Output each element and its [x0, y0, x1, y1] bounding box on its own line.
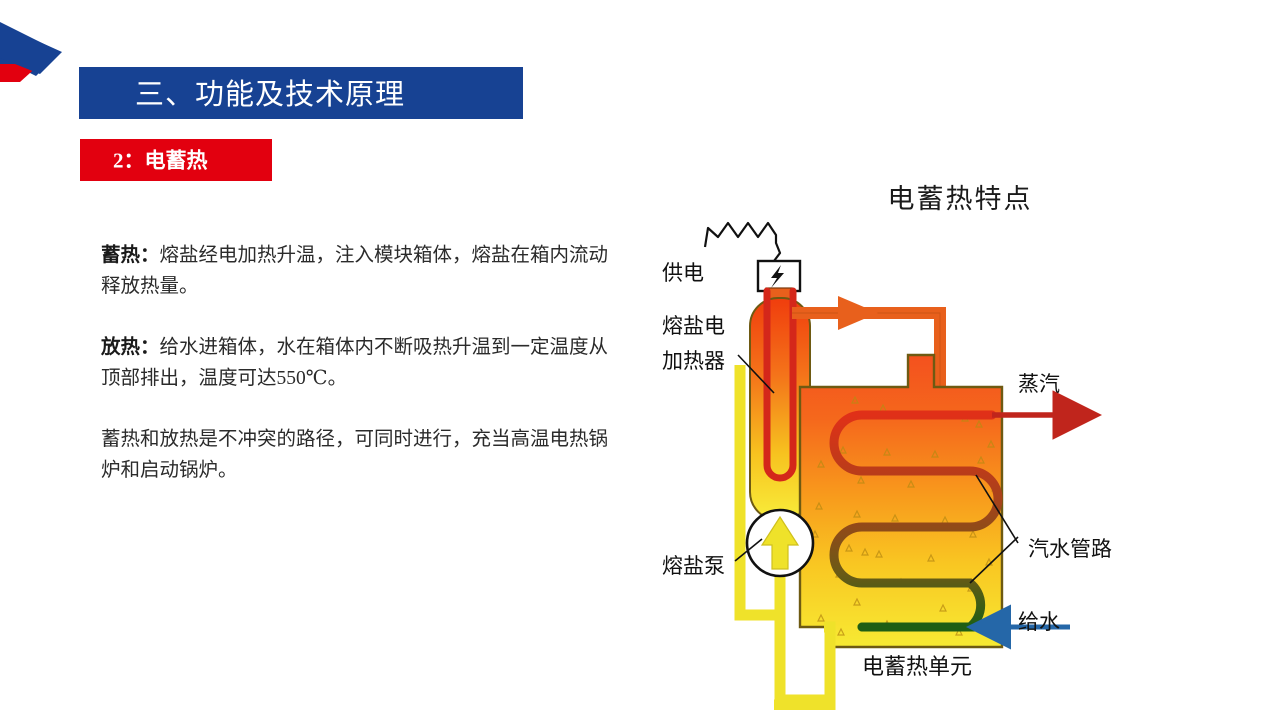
paragraph-storage-lead: 蓄热： [101, 245, 160, 266]
paragraph-storage-text: 熔盐经电加热升温，注入模块箱体，熔盐在箱内流动释放热量。 [101, 245, 608, 297]
diagram-svg [640, 165, 1280, 710]
section-title-text: 三、功能及技术原理 [135, 71, 405, 113]
label-heater-line2: 加热器 [662, 345, 725, 375]
subsection-label-text: 2：电蓄热 [113, 144, 208, 174]
power-supply-wire-icon [705, 223, 780, 261]
label-storage-unit: 电蓄热单元 [862, 649, 972, 681]
corner-decoration-svg [0, 22, 72, 82]
label-feedwater: 给水 [1018, 606, 1060, 636]
label-pump: 熔盐泵 [662, 550, 725, 580]
tank-shell [800, 355, 1002, 647]
paragraph-summary: 蓄热和放热是不冲突的路径，可同时进行，充当高温电热锅炉和启动锅炉。 [101, 424, 617, 486]
paragraph-release-lead: 放热： [101, 337, 160, 358]
thermal-storage-tank [800, 355, 1002, 647]
subsection-chip: 2：电蓄热 [80, 139, 272, 181]
paragraph-summary-text: 蓄热和放热是不冲突的路径，可同时进行，充当高温电热锅炉和启动锅炉。 [101, 429, 608, 481]
paragraph-release: 放热：给水进箱体，水在箱体内不断吸热升温到一定温度从顶部排出，温度可达550℃。 [101, 332, 617, 394]
label-steam: 蒸汽 [1018, 368, 1060, 398]
thermal-storage-diagram: 电蓄热特点 [640, 165, 1280, 710]
hot-flow-arrow-icon [838, 296, 878, 330]
section-title-bar: 三、功能及技术原理 [79, 67, 523, 119]
electric-power-box-icon [758, 261, 800, 291]
label-pipeline: 汽水管路 [1028, 533, 1112, 563]
corner-decoration [0, 22, 72, 82]
label-heater-line1: 熔盐电 [662, 310, 725, 340]
body-copy: 蓄热：熔盐经电加热升温，注入模块箱体，熔盐在箱内流动释放热量。 放热：给水进箱体… [101, 240, 617, 486]
paragraph-release-text: 给水进箱体，水在箱体内不断吸热升温到一定温度从顶部排出，温度可达550℃。 [101, 337, 608, 389]
label-power-supply: 供电 [662, 257, 704, 287]
paragraph-storage: 蓄热：熔盐经电加热升温，注入模块箱体，熔盐在箱内流动释放热量。 [101, 240, 617, 302]
